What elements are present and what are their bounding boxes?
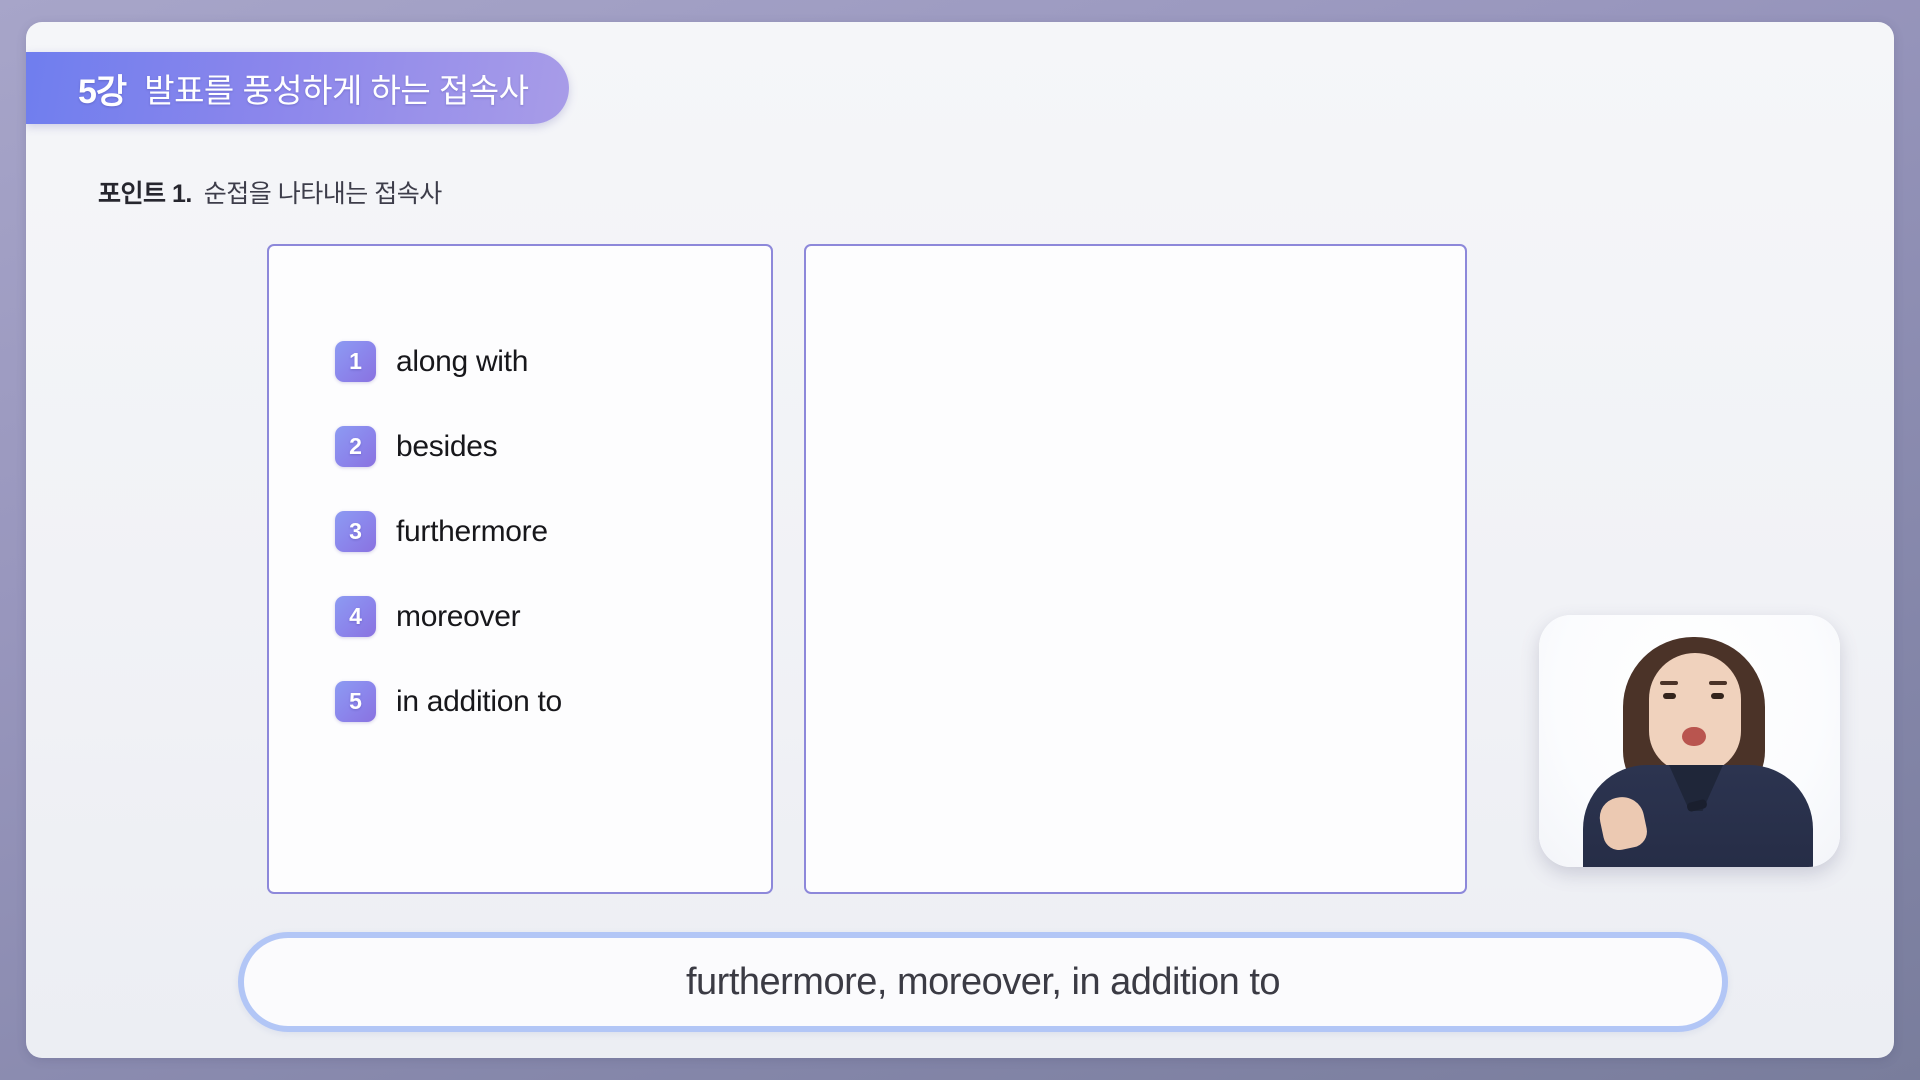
number-badge: 5 xyxy=(335,681,376,722)
presenter-eye-left xyxy=(1663,693,1676,699)
conjunction-list-panel: 1 along with 2 besides 3 furthermore 4 m… xyxy=(267,244,773,894)
conjunction-term: along with xyxy=(396,345,528,379)
number-badge: 4 xyxy=(335,596,376,637)
point-label: 포인트 1. xyxy=(98,174,192,210)
lesson-number-label: 5강 xyxy=(78,64,126,113)
conjunction-list: 1 along with 2 besides 3 furthermore 4 m… xyxy=(335,341,562,722)
point-description: 순접을 나타내는 접속사 xyxy=(204,174,442,210)
presenter-mouth xyxy=(1682,727,1706,746)
blank-answer-panel xyxy=(804,244,1467,894)
list-item: 1 along with xyxy=(335,341,562,382)
presenter-eyebrow-left xyxy=(1660,681,1678,685)
lesson-title-bar: 5강 발표를 풍성하게 하는 접속사 xyxy=(26,52,569,124)
conjunction-term: besides xyxy=(396,430,497,464)
list-item: 3 furthermore xyxy=(335,511,562,552)
slide-card: 5강 발표를 풍성하게 하는 접속사 포인트 1. 순접을 나타내는 접속사 1… xyxy=(26,22,1894,1058)
slide-frame: 5강 발표를 풍성하게 하는 접속사 포인트 1. 순접을 나타내는 접속사 1… xyxy=(0,0,1920,1080)
conjunction-term: in addition to xyxy=(396,685,562,719)
conjunction-term: furthermore xyxy=(396,515,548,549)
presenter-eyebrow-right xyxy=(1709,681,1727,685)
list-item: 5 in addition to xyxy=(335,681,562,722)
presenter-eye-right xyxy=(1711,693,1724,699)
number-badge: 2 xyxy=(335,426,376,467)
list-item: 4 moreover xyxy=(335,596,562,637)
point-heading: 포인트 1. 순접을 나타내는 접속사 xyxy=(98,174,442,210)
answer-bar: furthermore, moreover, in addition to xyxy=(238,932,1728,1032)
list-item: 2 besides xyxy=(335,426,562,467)
lesson-title-text: 발표를 풍성하게 하는 접속사 xyxy=(144,64,528,112)
presenter-video-overlay[interactable] xyxy=(1539,615,1840,867)
presenter-face xyxy=(1649,653,1741,773)
number-badge: 1 xyxy=(335,341,376,382)
answer-text: furthermore, moreover, in addition to xyxy=(686,961,1280,1004)
number-badge: 3 xyxy=(335,511,376,552)
conjunction-term: moreover xyxy=(396,600,520,634)
